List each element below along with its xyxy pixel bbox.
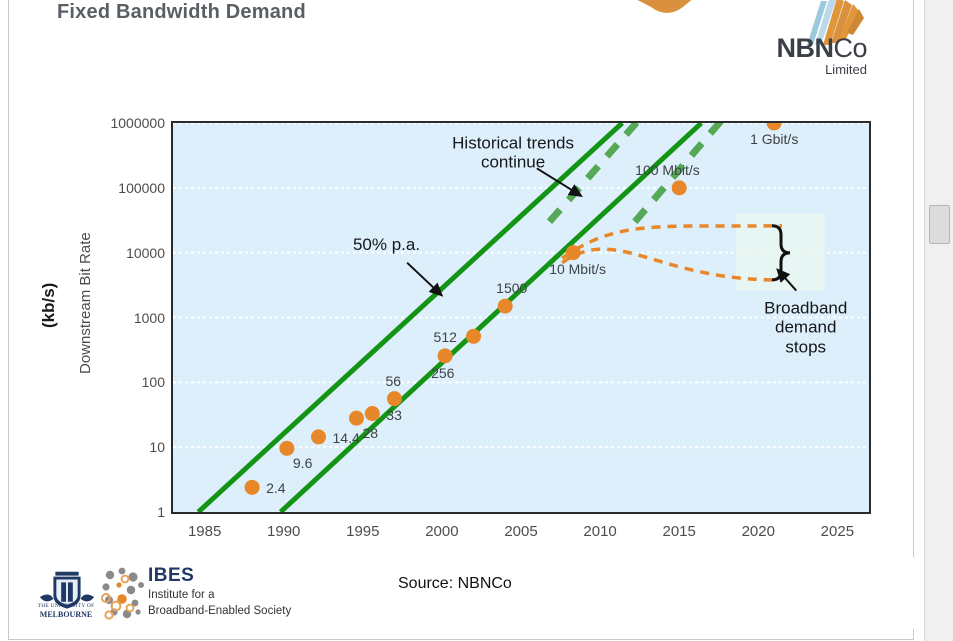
uom-line2: MELBOURNE [34,610,98,619]
data-point [672,180,687,195]
data-point [279,441,294,456]
data-point [498,299,513,314]
co-text: Co [833,33,867,63]
data-point [387,391,402,406]
y-axis-tick: 1000 [134,310,165,326]
nbnco-logo: NBNCo Limited [727,0,867,71]
y-axis-tick: 1000000 [110,115,165,131]
x-axis-tick: 2010 [583,523,616,540]
y-axis-label: Downstream Bit Rate [77,186,97,421]
orange-swoosh-decoration [597,0,717,19]
data-point [311,429,326,444]
nbnco-wordmark: NBNCo Limited [776,35,867,76]
x-axis-tick: 2000 [425,523,458,540]
limited-text: Limited [776,63,867,76]
scrollbar-thumb[interactable] [929,205,950,244]
nbn-text: NBN [776,33,833,63]
historical-trends-annotation: Historical trends continue [452,133,574,172]
ibes-subtitle: Institute for a Broadband-Enabled Societ… [148,588,291,619]
broadband-stops-annotation: Broadband demand stops [764,298,847,357]
data-point-label: 9.6 [293,455,312,471]
x-axis-tick-labels: 198519901995200020052010201520202025 [171,523,871,545]
data-point-label: 100 Mbit/s [635,162,700,178]
data-point-label: 28 [362,425,378,441]
growth-rate-annotation-arrow [407,263,440,294]
y-axis-unit-label: (kb/s) [39,245,61,365]
data-point-label: 14.4 [333,430,360,446]
data-point [767,123,782,131]
data-point-label: 2.4 [266,480,285,496]
growth-rate-annotation: 50% p.a. [353,235,420,255]
y-axis-tick: 100000 [118,180,165,196]
x-axis-tick: 1990 [267,523,300,540]
screenshot-root: Fixed Bandwidth Demand NBN [0,0,953,641]
data-point-label: 33 [386,407,402,423]
data-point [365,406,380,421]
y-axis-tick: 10000 [126,245,165,261]
ibes-subtitle-line2: Broadband-Enabled Society [148,604,291,620]
x-axis-tick: 1995 [346,523,379,540]
ibes-subtitle-line1: Institute for a [148,588,291,604]
x-axis-tick: 2025 [821,523,854,540]
x-axis-tick: 2020 [742,523,775,540]
data-point-label: 1500 [496,280,527,296]
data-point [566,245,581,260]
page-title: Fixed Bandwidth Demand [57,1,306,24]
ibes-name: IBES [148,565,194,587]
y-axis-tick: 100 [142,374,165,390]
data-point-label: 56 [385,373,401,389]
x-axis-tick: 2005 [504,523,537,540]
presentation-slide: Fixed Bandwidth Demand NBN [8,0,914,640]
data-point-label: 256 [431,365,454,381]
data-point-label: 1 Gbit/s [750,131,798,147]
y-axis-tick: 1 [157,504,165,520]
data-point [349,411,364,426]
vertical-scrollbar[interactable] [924,0,953,641]
data-point [245,480,260,495]
slide-footer: THE UNIVERSITY OF MELBOURNE [18,557,922,629]
data-point [466,329,481,344]
document-pane: Fixed Bandwidth Demand NBN [0,0,925,641]
historical-trends-annotation-arrow [537,168,580,195]
data-point-label: 512 [434,329,457,345]
data-point [438,348,453,363]
data-point-label: 10 Mbit/s [549,261,606,277]
x-axis-tick: 2015 [662,523,695,540]
x-axis-tick: 1985 [188,523,221,540]
uom-line1: THE UNIVERSITY OF [34,603,98,609]
ibes-logo: THE UNIVERSITY OF MELBOURNE [34,563,334,625]
y-axis-tick: 10 [149,439,165,455]
ibes-dot-sphere-icon [100,565,146,623]
source-note: Source: NBNCo [398,575,512,593]
